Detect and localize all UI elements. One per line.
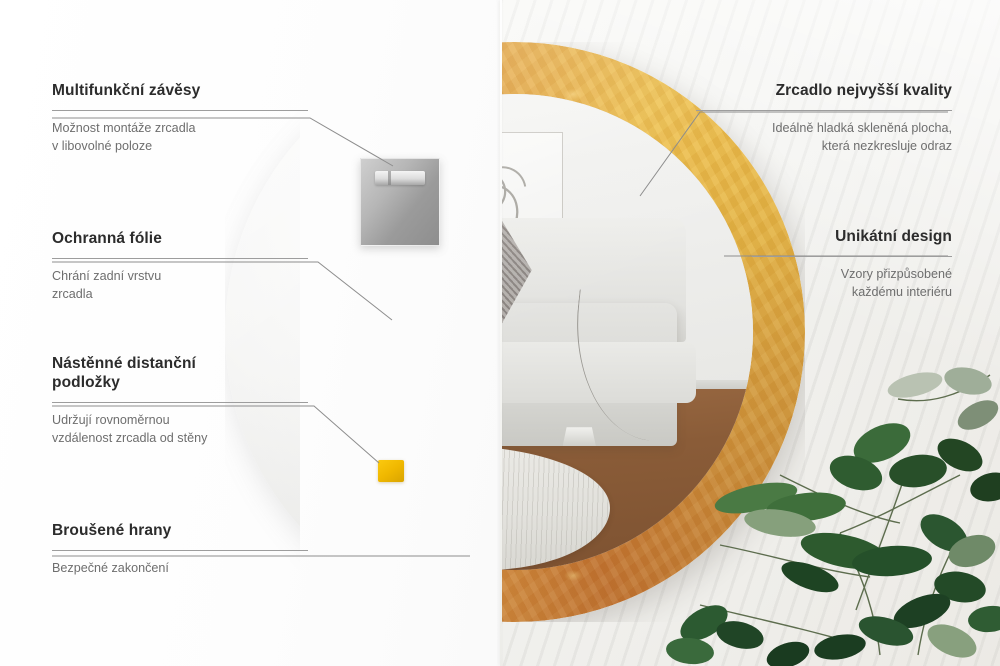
callout-rule [696,110,952,111]
callout-body-line1: Udržují rovnoměrnou [52,413,170,427]
callout-body-line2: vzdálenost zrcadla od stěny [52,431,207,445]
hanger-plate [360,158,440,246]
callout-unikatni-design: Unikátní design Vzory přizpůsobené každé… [752,228,952,302]
callout-title: Broušené hrany [52,522,308,541]
callout-rule [52,110,308,111]
callout-body-line1: Bezpečné zakončení [52,561,169,575]
callout-body-line2: která nezkresluje odraz [822,139,952,153]
callout-title: Nástěnné distanční podložky [52,355,308,393]
callout-body-line2: každému interiéru [852,285,952,299]
callout-body-line1: Chrání zadní vrstvu [52,269,161,283]
callout-title: Ochranná fólie [52,230,308,249]
callout-title: Unikátní design [752,228,952,247]
infographic-canvas: Multifunkční závěsy Možnost montáže zrca… [0,0,1000,666]
callout-ochranna-folie: Ochranná fólie Chrání zadní vrstvu zrcad… [52,230,308,304]
callout-title-line1: Nástěnné distanční [52,355,196,372]
callout-brousene-hrany: Broušené hrany Bezpečné zakončení [52,522,308,578]
callout-body: Možnost montáže zrcadla v libovolné polo… [52,120,308,156]
yellow-spacer-pad [378,460,404,482]
callout-body-line2: v libovolné poloze [52,139,152,153]
callout-rule [52,258,308,259]
plant-foliage [660,355,1000,666]
callout-body: Udržují rovnoměrnou vzdálenost zrcadla o… [52,412,308,448]
callout-rule [52,550,308,551]
callout-rule [752,256,952,257]
callout-title-line2: podložky [52,374,120,391]
callout-body-line1: Možnost montáže zrcadla [52,121,196,135]
callout-body: Ideálně hladká skleněná plocha, která ne… [696,120,952,156]
callout-title: Zrcadlo nejvyšší kvality [696,82,952,101]
callout-body-line1: Ideálně hladká skleněná plocha, [772,121,952,135]
callout-body-line2: zrcadla [52,287,93,301]
callout-multifunkcni-zavesy: Multifunkční závěsy Možnost montáže zrca… [52,82,308,156]
callout-body-line1: Vzory přizpůsobené [841,267,952,281]
callout-title: Multifunkční závěsy [52,82,308,101]
hanger-keyhole-slot [375,171,425,185]
callout-body: Vzory přizpůsobené každému interiéru [752,266,952,302]
callout-body: Chrání zadní vrstvu zrcadla [52,268,308,304]
callout-zrcadlo-nejvyssi-kvality: Zrcadlo nejvyšší kvality Ideálně hladká … [696,82,952,156]
plant-leaves [665,363,1000,666]
callout-rule [52,402,308,403]
callout-body: Bezpečné zakončení [52,560,308,578]
callout-nastenne-distancni-podlozky: Nástěnné distanční podložky Udržují rovn… [52,355,308,448]
reflected-lamp-shade [563,427,596,446]
plant-stems [700,375,990,655]
panel-divider [500,0,502,666]
